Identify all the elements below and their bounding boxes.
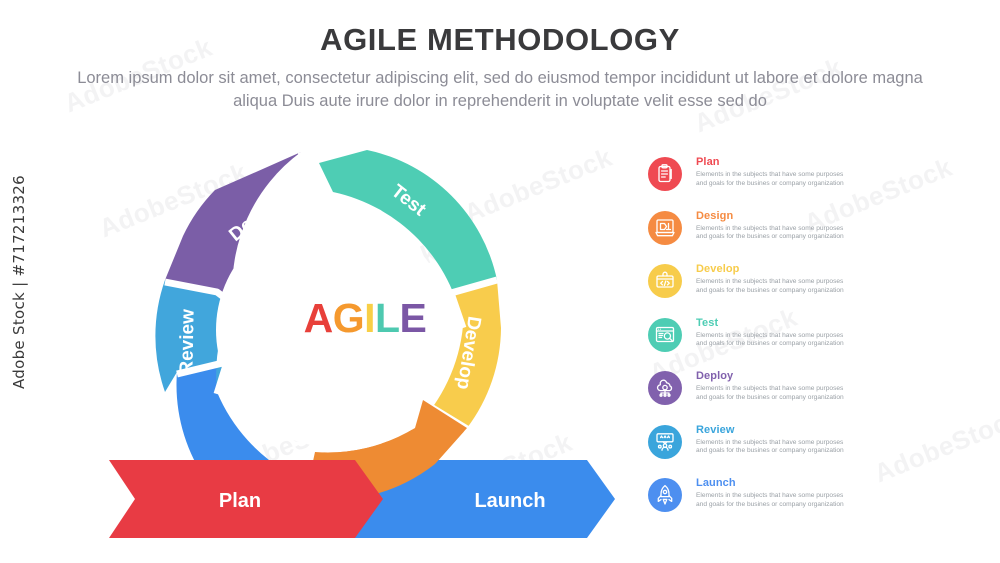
legend-item-launch[interactable]: LaunchElements in the subjects that have…: [648, 476, 948, 530]
legend-text-block: DevelopElements in the subjects that hav…: [696, 262, 844, 295]
legend-item-title: Launch: [696, 477, 844, 490]
legend-item-test[interactable]: TestElements in the subjects that have s…: [648, 316, 948, 370]
legend-item-deploy[interactable]: DeployElements in the subjects that have…: [648, 369, 948, 423]
agile-letter-g: G: [333, 295, 364, 342]
legend-item-desc-line1: Elements in the subjects that have some …: [696, 332, 844, 341]
cloud-network-icon: [648, 371, 682, 405]
bar-label-plan: Plan: [219, 490, 261, 512]
page-title: AGILE METHODOLOGY: [0, 22, 1000, 58]
page-subtitle: Lorem ipsum dolor sit amet, consectetur …: [55, 67, 945, 114]
rocket-icon: [648, 478, 682, 512]
bar-label-launch: Launch: [474, 490, 545, 512]
legend-item-desc-line1: Elements in the subjects that have some …: [696, 439, 844, 448]
agile-letter-e: E: [400, 295, 427, 342]
agile-letter-a: A: [304, 295, 333, 342]
blueprint-icon: [648, 211, 682, 245]
agile-center-word: AGILE: [105, 295, 625, 342]
legend-item-desc-line2: and goals for the busines or company org…: [696, 233, 844, 242]
legend-item-desc-line1: Elements in the subjects that have some …: [696, 225, 844, 234]
legend-text-block: PlanElements in the subjects that have s…: [696, 155, 844, 188]
legend-text-block: TestElements in the subjects that have s…: [696, 316, 844, 349]
legend-item-develop[interactable]: DevelopElements in the subjects that hav…: [648, 262, 948, 316]
legend-item-plan[interactable]: PlanElements in the subjects that have s…: [648, 155, 948, 209]
agile-letter-l: L: [375, 295, 400, 342]
legend-item-design[interactable]: DesignElements in the subjects that have…: [648, 209, 948, 263]
legend-item-title: Deploy: [696, 370, 844, 383]
legend-item-desc-line2: and goals for the busines or company org…: [696, 447, 844, 456]
legend-item-desc-line2: and goals for the busines or company org…: [696, 287, 844, 296]
legend-list: PlanElements in the subjects that have s…: [648, 155, 948, 530]
legend-text-block: DesignElements in the subjects that have…: [696, 209, 844, 242]
legend-text-block: LaunchElements in the subjects that have…: [696, 476, 844, 509]
legend-item-title: Test: [696, 317, 844, 330]
legend-item-title: Design: [696, 210, 844, 223]
legend-item-title: Plan: [696, 156, 844, 169]
agile-letter-i: I: [364, 295, 375, 342]
legend-item-title: Develop: [696, 263, 844, 276]
legend-item-title: Review: [696, 424, 844, 437]
legend-item-desc-line2: and goals for the busines or company org…: [696, 501, 844, 510]
legend-item-desc-line2: and goals for the busines or company org…: [696, 394, 844, 403]
legend-item-review[interactable]: ReviewElements in the subjects that have…: [648, 423, 948, 477]
legend-item-desc-line2: and goals for the busines or company org…: [696, 180, 844, 189]
legend-text-block: ReviewElements in the subjects that have…: [696, 423, 844, 456]
legend-item-desc-line1: Elements in the subjects that have some …: [696, 385, 844, 394]
adobe-stock-watermark-text: Adobe Stock | #717213326: [10, 175, 28, 389]
browser-search-icon: [648, 318, 682, 352]
page-header: AGILE METHODOLOGY Lorem ipsum dolor sit …: [0, 22, 1000, 114]
users-review-icon: [648, 425, 682, 459]
legend-item-desc-line1: Elements in the subjects that have some …: [696, 171, 844, 180]
legend-text-block: DeployElements in the subjects that have…: [696, 369, 844, 402]
code-window-icon: [648, 264, 682, 298]
clipboard-icon: [648, 157, 682, 191]
legend-item-desc-line1: Elements in the subjects that have some …: [696, 492, 844, 501]
legend-item-desc-line1: Elements in the subjects that have some …: [696, 278, 844, 287]
legend-item-desc-line2: and goals for the busines or company org…: [696, 340, 844, 349]
agile-cycle-diagram: Test Develop Design Review Deploy Plan L…: [105, 130, 625, 540]
